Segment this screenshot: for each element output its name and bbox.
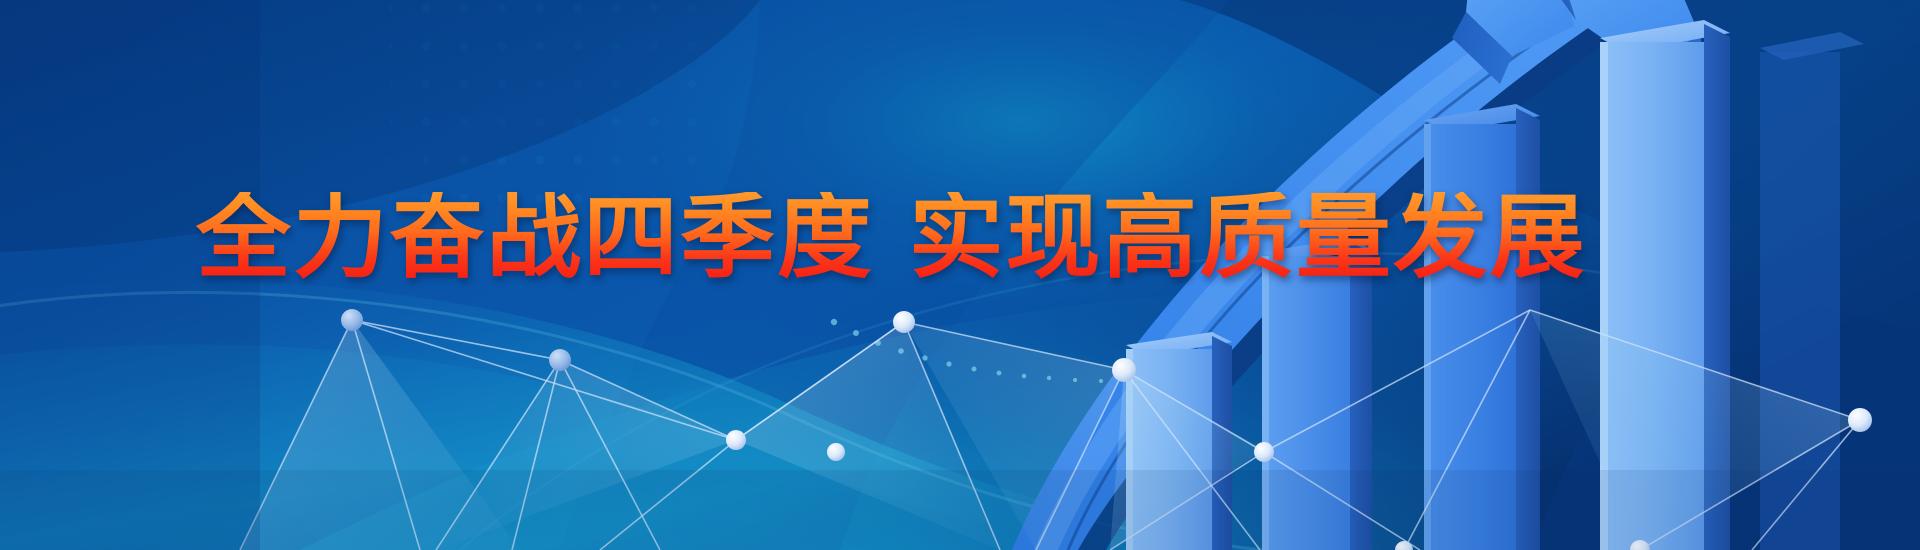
node-right-upper [1112, 358, 1136, 382]
node-left-lower [549, 349, 571, 371]
node-center-low [827, 443, 845, 461]
vignette-bottom [0, 470, 1920, 550]
node-center [726, 430, 746, 450]
banner-background-graphic [0, 0, 1920, 550]
vignette-left [0, 0, 260, 550]
node-right-lower [1254, 442, 1274, 462]
node-far-right [1848, 408, 1872, 432]
node-mid-right [893, 311, 915, 333]
banner-root: 全力奋战四季度 实现高质量发展 [0, 0, 1920, 550]
node-left-upper [341, 309, 363, 331]
